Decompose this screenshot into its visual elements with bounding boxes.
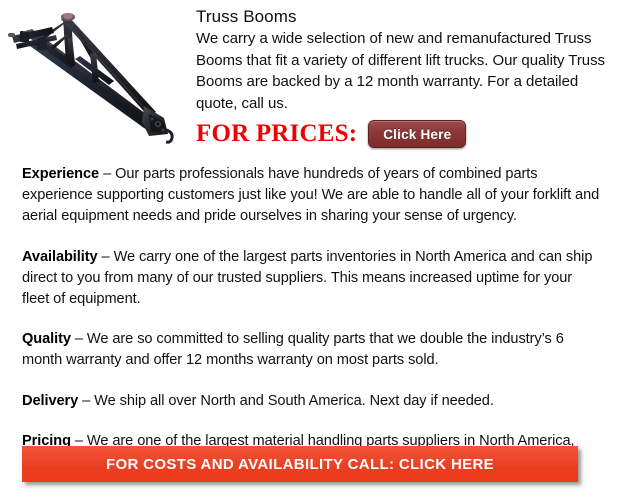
feature-label-delivery: Delivery xyxy=(22,393,78,409)
for-prices-label: FOR PRICES: xyxy=(196,120,357,148)
feature-dash-quality: – xyxy=(71,331,87,347)
cta-section: FOR COSTS AND AVAILABILITY CALL: CLICK H… xyxy=(22,446,578,482)
feature-label-availability: Availability xyxy=(22,249,98,265)
feature-label-quality: Quality xyxy=(22,331,71,347)
feature-text-delivery: We ship all over North and South America… xyxy=(94,393,494,409)
product-page: Truss Booms We carry a wide selection of… xyxy=(0,0,619,504)
page-title: Truss Booms xyxy=(196,6,608,27)
feature-experience: Experience – Our parts professionals hav… xyxy=(22,164,602,228)
hero-text-block: Truss Booms We carry a wide selection of… xyxy=(196,6,608,114)
truss-boom-product-image xyxy=(6,2,190,152)
feature-label-experience: Experience xyxy=(22,166,99,182)
feature-availability: Availability – We carry one of the large… xyxy=(22,247,602,311)
product-description: We carry a wide selection of new and rem… xyxy=(196,28,608,114)
costs-availability-call-button[interactable]: FOR COSTS AND AVAILABILITY CALL: CLICK H… xyxy=(22,446,578,482)
feature-dash-availability: – xyxy=(98,249,114,265)
for-prices-row: FOR PRICES: Click Here xyxy=(196,120,466,148)
click-here-button[interactable]: Click Here xyxy=(368,120,466,148)
feature-quality: Quality – We are so committed to selling… xyxy=(22,329,602,371)
feature-dash-delivery: – xyxy=(78,393,94,409)
feature-dash-experience: – xyxy=(99,166,115,182)
feature-delivery: Delivery – We ship all over North and So… xyxy=(22,391,602,412)
feature-text-quality: We are so committed to selling quality p… xyxy=(22,331,564,368)
features-list: Experience – Our parts professionals hav… xyxy=(22,164,602,473)
hero-section: Truss Booms We carry a wide selection of… xyxy=(0,0,619,160)
